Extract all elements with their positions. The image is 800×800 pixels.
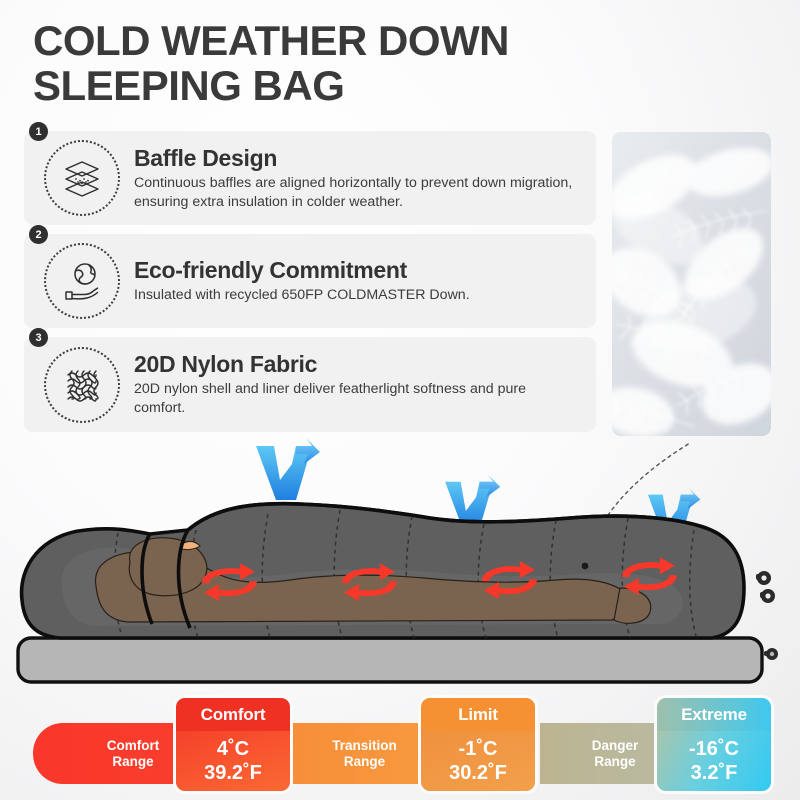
baffle-layers-icon: [44, 140, 120, 216]
page-title: COLD WEATHER DOWN SLEEPING BAG: [33, 18, 633, 109]
feature-number-badge: 2: [29, 225, 48, 244]
feature-title: Baffle Design: [134, 145, 578, 172]
temperature-rating-bar: Comfort Range Transition Range Danger Ra…: [0, 697, 800, 793]
feature-card-eco-friendly-commitment: 2 Eco-friendly Commitment Insulated with…: [24, 234, 596, 328]
callout-label: Comfort: [176, 698, 290, 731]
limit-temperature-callout: Limit -1˚C 30.2˚F: [421, 698, 535, 791]
feature-number-badge: 3: [29, 328, 48, 347]
feature-description: Insulated with recycled 650FP COLDMASTER…: [134, 286, 578, 305]
extreme-temperature-callout: Extreme -16˚C 3.2˚F: [657, 698, 771, 791]
feature-card-20d-nylon-fabric: 3 20D Nylon Fabric 20D nylon sh: [24, 337, 596, 432]
shell-vent-dot: [582, 563, 589, 570]
globe-in-hand-icon: [44, 243, 120, 319]
feature-card-list: 1 Baffle Design Continuous baffles are a…: [24, 131, 596, 441]
feature-card-body: Eco-friendly Commitment Insulated with r…: [134, 257, 582, 305]
callout-celsius: -16˚C: [689, 737, 739, 761]
feature-title: 20D Nylon Fabric: [134, 351, 578, 378]
feature-title: Eco-friendly Commitment: [134, 257, 578, 284]
woven-fabric-icon: [44, 347, 120, 423]
transition-range-segment: Transition Range: [287, 723, 442, 784]
callout-label: Limit: [421, 698, 535, 731]
callout-label: Extreme: [657, 698, 771, 731]
callout-celsius: -1˚C: [459, 737, 498, 761]
callout-celsius: 4˚C: [217, 737, 249, 761]
down-feather-closeup-photo: [612, 132, 771, 436]
comfort-temperature-callout: Comfort 4˚C 39.2˚F: [176, 698, 290, 791]
feature-card-body: Baffle Design Continuous baffles are ali…: [134, 145, 582, 212]
sleeping-bag-cutaway-illustration: [0, 438, 800, 688]
callout-values: -16˚C 3.2˚F: [657, 731, 771, 791]
callout-fahrenheit: 39.2˚F: [204, 761, 262, 785]
feature-description: Continuous baffles are aligned horizonta…: [134, 174, 578, 212]
callout-fahrenheit: 30.2˚F: [449, 761, 507, 785]
airflow-arrow: [256, 438, 320, 500]
callout-values: -1˚C 30.2˚F: [421, 731, 535, 791]
zipper-pull-icon: [756, 571, 775, 603]
callout-values: 4˚C 39.2˚F: [176, 731, 290, 791]
feature-description: 20D nylon shell and liner deliver feathe…: [134, 380, 578, 418]
feature-card-baffle-design: 1 Baffle Design Continuous baffles are a…: [24, 131, 596, 225]
feature-number-badge: 1: [29, 122, 48, 141]
sleeping-pad: [18, 638, 778, 682]
feature-card-body: 20D Nylon Fabric 20D nylon shell and lin…: [134, 351, 582, 418]
callout-fahrenheit: 3.2˚F: [691, 761, 738, 785]
